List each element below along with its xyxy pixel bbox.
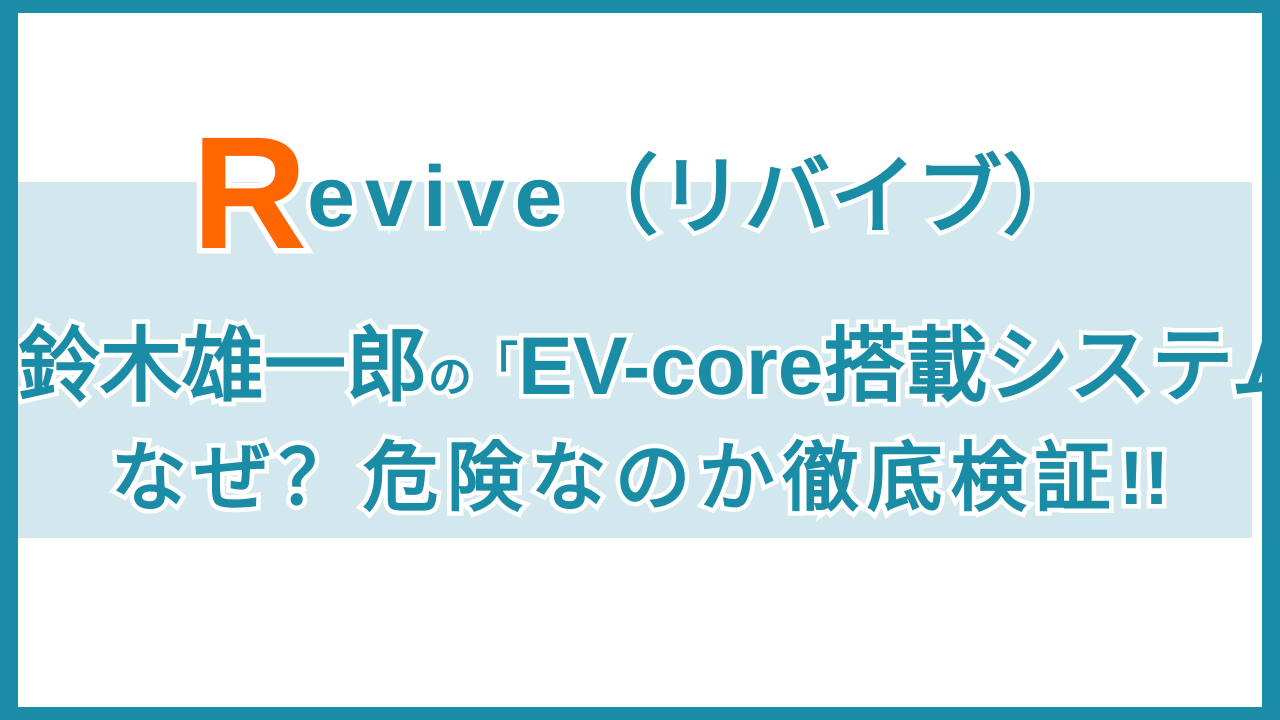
brand-name-rest: evive	[307, 149, 572, 245]
banner-text-block: Revive（リバイブ） 鈴木雄一郎の「EV-core搭載システム」 なぜ？危険…	[18, 13, 1262, 707]
quote-open-bracket: 「	[472, 338, 518, 390]
brand-initial-letter: R	[192, 113, 308, 273]
banner-subtitle-secondary: なぜ？危険なのか徹底検証!!	[18, 441, 1262, 517]
brand-name-kana: （リバイブ）	[572, 149, 1088, 245]
banner-title: Revive（リバイブ）	[18, 113, 1262, 273]
product-name: EV-core搭載システム	[518, 321, 1262, 412]
eyecatch-banner: Revive（リバイブ） 鈴木雄一郎の「EV-core搭載システム」 なぜ？危険…	[0, 0, 1280, 720]
possessive-particle: の	[428, 353, 472, 402]
subtitle-question-text: なぜ？危険なのか徹底検証	[111, 436, 1119, 521]
banner-subtitle-primary: 鈴木雄一郎の「EV-core搭載システム」	[18, 326, 1262, 408]
banner-card: Revive（リバイブ） 鈴木雄一郎の「EV-core搭載システム」 なぜ？危険…	[18, 13, 1262, 707]
person-name: 鈴木雄一郎	[18, 321, 428, 412]
subtitle-exclamation: !!	[1119, 436, 1170, 521]
